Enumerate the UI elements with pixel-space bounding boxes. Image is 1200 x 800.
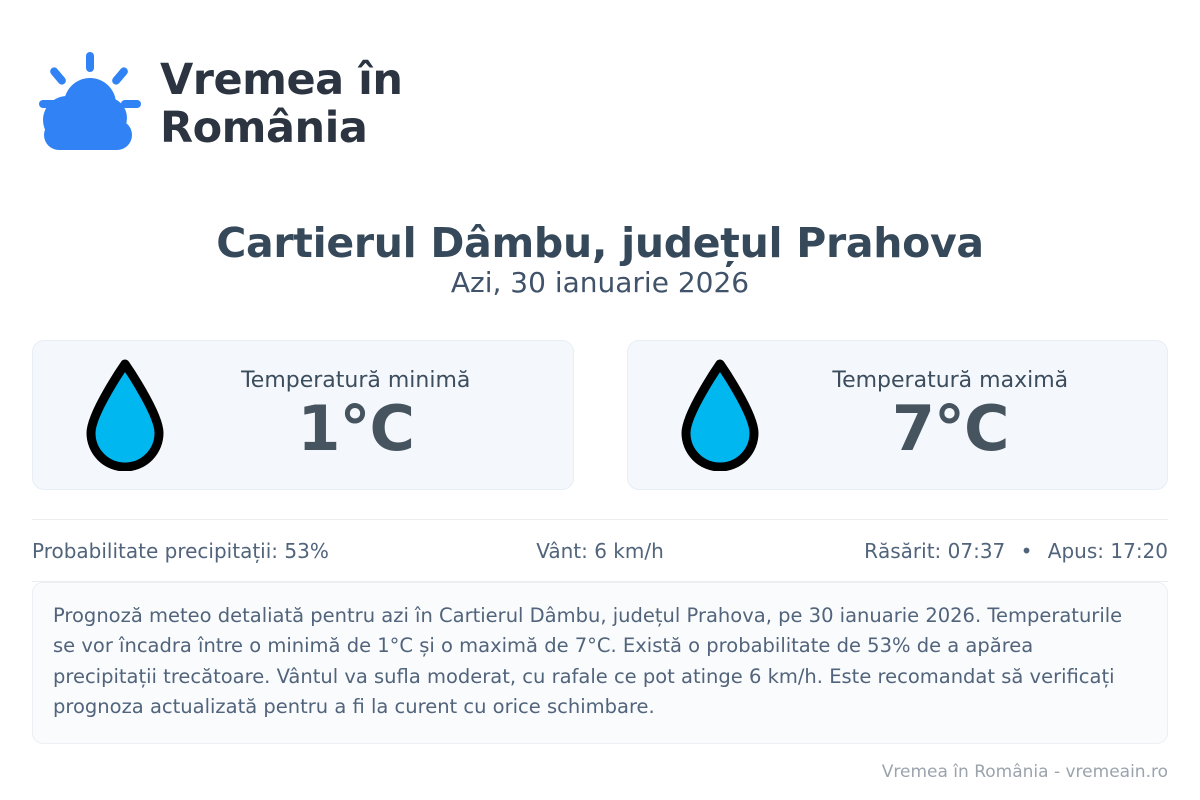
precipitation-stat: Probabilitate precipitații: 53% [32, 539, 411, 563]
min-temperature-card: Temperatură minimă 1°C [32, 340, 574, 490]
sunset-time: Apus: 17:20 [1048, 539, 1168, 563]
wind-stat: Vânt: 6 km/h [411, 539, 790, 563]
brand-logo[interactable]: Vremea în România [34, 52, 402, 156]
sun-times-stat: Răsărit: 07:37 • Apus: 17:20 [789, 539, 1168, 563]
water-drop-icon [678, 359, 762, 471]
min-temperature-value: 1°C [167, 396, 545, 462]
brand-name: Vremea în România [160, 56, 402, 152]
max-temperature-label: Temperatură maximă [762, 368, 1140, 394]
max-temperature-body: Temperatură maximă 7°C [762, 368, 1168, 462]
sunrise-time: Răsărit: 07:37 [864, 539, 1005, 563]
page-subtitle: Azi, 30 ianuarie 2026 [0, 266, 1200, 299]
bullet-separator-icon: • [1012, 539, 1042, 563]
max-temperature-card: Temperatură maximă 7°C [627, 340, 1169, 490]
min-temperature-label: Temperatură minimă [167, 368, 545, 394]
water-drop-icon [83, 359, 167, 471]
weather-page: Vremea în România Cartierul Dâmbu, județ… [0, 0, 1200, 800]
temperature-cards: Temperatură minimă 1°C Temperatură maxim… [32, 340, 1168, 490]
forecast-description: Prognoză meteo detaliată pentru azi în C… [32, 582, 1168, 744]
weather-stats-row: Probabilitate precipitații: 53% Vânt: 6 … [32, 519, 1168, 582]
sun-cloud-icon [34, 52, 144, 156]
max-temperature-value: 7°C [762, 396, 1140, 462]
page-title: Cartierul Dâmbu, județul Prahova [0, 219, 1200, 267]
min-temperature-body: Temperatură minimă 1°C [167, 368, 573, 462]
footer-credit: Vremea în România - vremeain.ro [882, 762, 1168, 782]
